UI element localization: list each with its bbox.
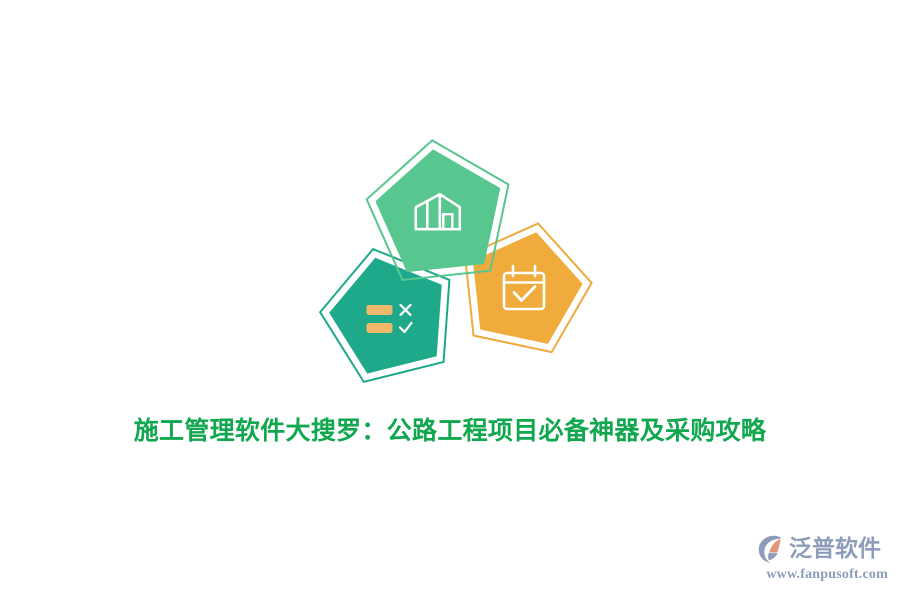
watermark-url-text: www.fanpusoft.com	[756, 567, 888, 583]
watermark-brand-row: 泛普软件	[756, 532, 888, 566]
fanpu-circle-sail-logo-icon	[756, 533, 788, 565]
pentagon-illustration	[0, 0, 900, 400]
page-title-block: 施工管理软件大搜罗：公路工程项目必备神器及采购攻略	[0, 414, 900, 448]
page-title: 施工管理软件大搜罗：公路工程项目必备神器及采购攻略	[134, 414, 767, 448]
watermark-brand-text: 泛普软件	[789, 534, 881, 564]
watermark: 泛普软件 www.fanpusoft.com	[756, 532, 888, 590]
